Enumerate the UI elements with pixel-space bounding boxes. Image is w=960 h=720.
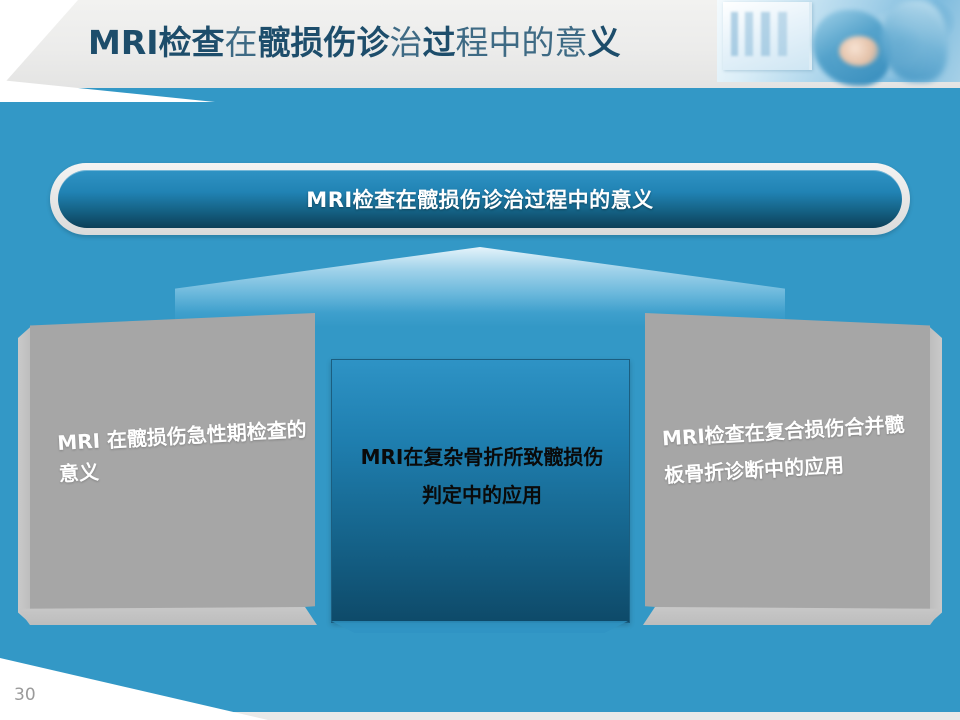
section-banner-label: MRI检查在髋损伤诊治过程中的意义	[306, 184, 653, 214]
panel-right-side-face	[928, 313, 942, 625]
topic-panel-right-label: MRI检查在复合损伤合并髋板骨折诊断中的应用	[661, 406, 917, 495]
topic-panel-right[interactable]: MRI检查在复合损伤合并髋板骨折诊断中的应用	[645, 313, 930, 625]
topic-panel-middle[interactable]: MRI在复杂骨折所致髋损伤判定中的应用	[331, 359, 630, 623]
topic-panel-middle-label: MRI在复杂骨折所致髋损伤判定中的应用	[354, 438, 610, 514]
slide-header: MRI检查在髋损伤诊治过程中的意义	[0, 0, 960, 88]
monitor-display-icon	[723, 2, 812, 70]
surgery-photo-icon	[717, 0, 960, 82]
title-segment-1: MRI检查	[88, 23, 225, 62]
panel-middle-bottom-face	[331, 621, 628, 633]
section-banner[interactable]: MRI检查在髋损伤诊治过程中的意义	[58, 170, 902, 228]
surgeon-figure-secondary-icon	[881, 0, 947, 82]
title-segment-3: 髋损伤诊	[258, 23, 390, 62]
header-band-corner-wedge	[0, 80, 215, 102]
title-segment-2: 在	[225, 23, 258, 62]
title-segment-6: 程中的意	[456, 23, 588, 62]
presentation-slide: MRI检查在髋损伤诊治过程中的意义 MRI检查在髋损伤诊治过程中的意义 MRI …	[0, 0, 960, 720]
panel-left-side-face	[18, 313, 32, 625]
header-corner-wedge	[0, 0, 78, 88]
page-title: MRI检查在髋损伤诊治过程中的意义	[88, 14, 708, 72]
topic-panel-left[interactable]: MRI 在髋损伤急性期检查的意义	[30, 313, 315, 625]
title-segment-4: 治	[390, 23, 423, 62]
surgeon-face-icon	[839, 36, 879, 66]
footer-corner-wedge	[0, 658, 268, 720]
title-segment-5: 过	[423, 23, 456, 62]
slide-number: 30	[14, 685, 36, 705]
title-segment-7: 义	[588, 23, 621, 62]
